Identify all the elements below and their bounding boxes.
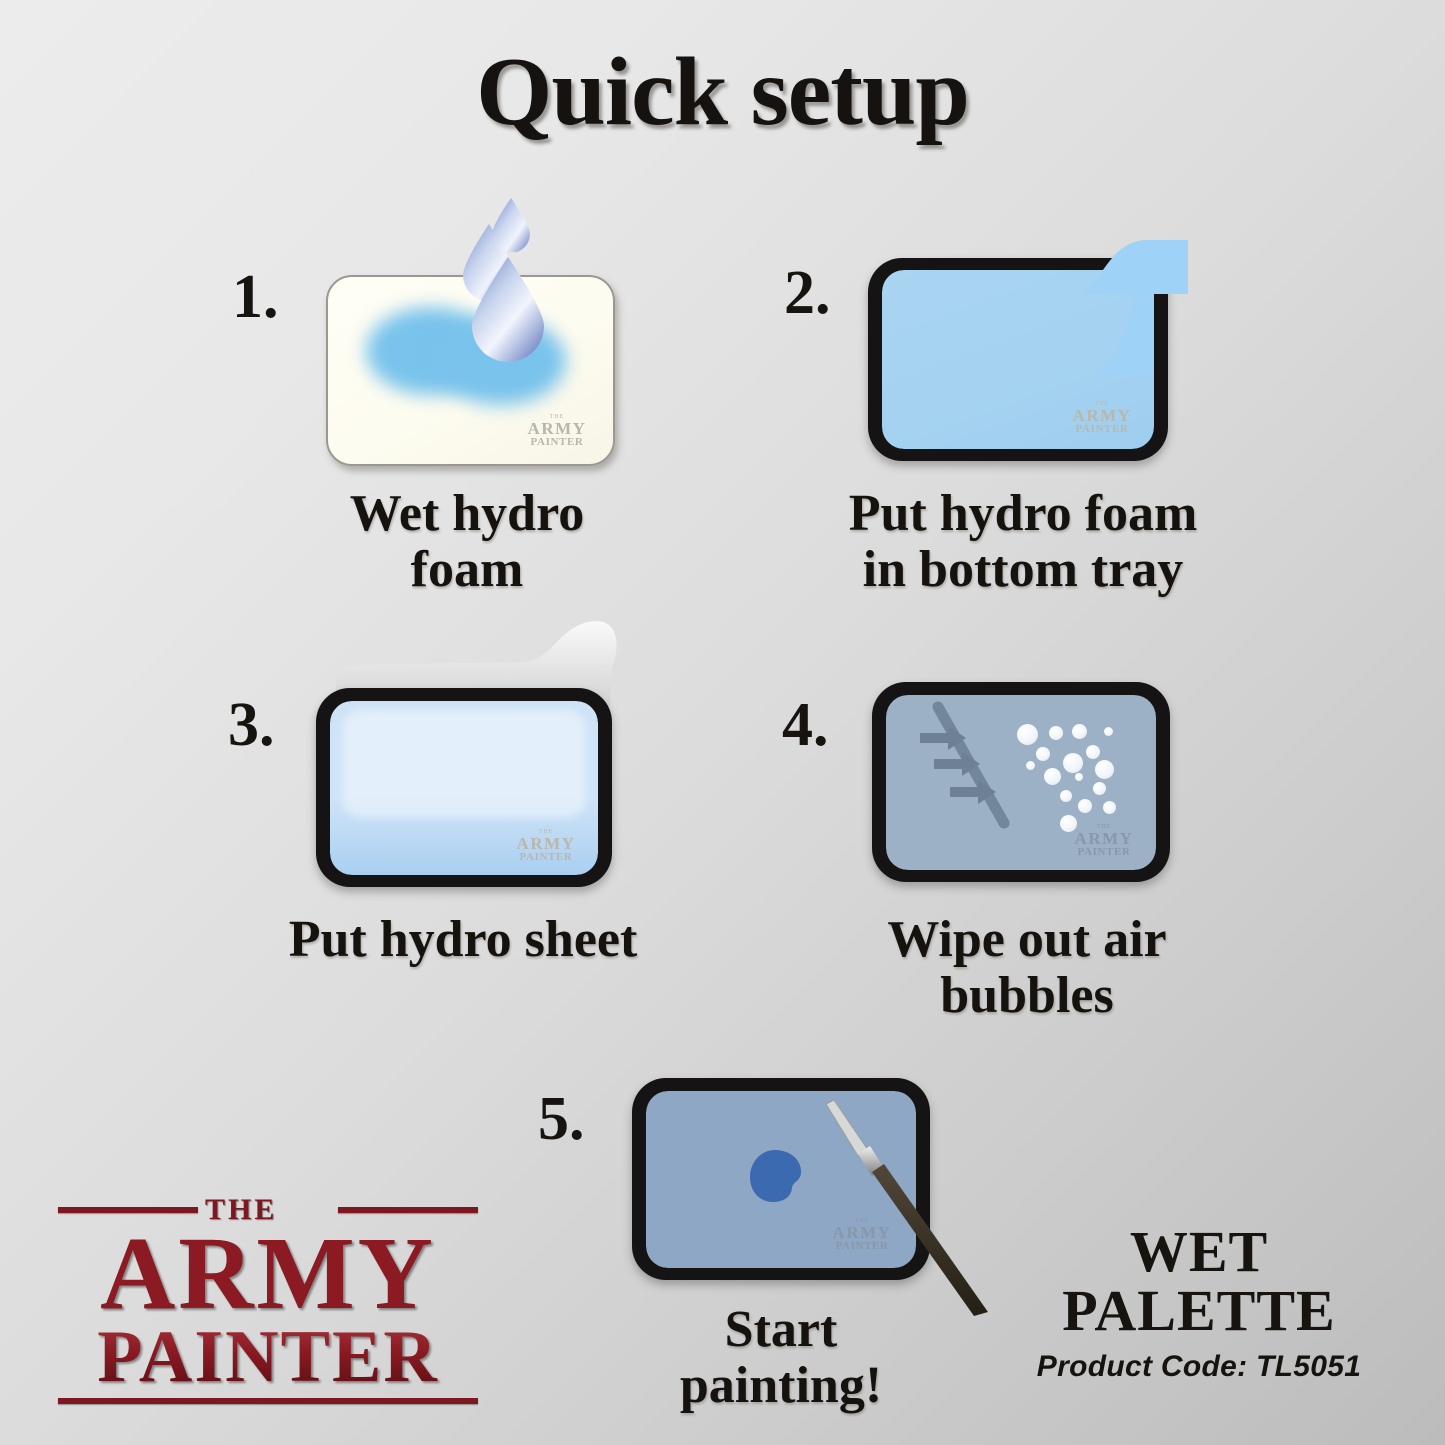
sheet-gloss — [343, 710, 584, 818]
bottom-tray: THE ARMY PAINTER — [872, 682, 1170, 882]
water-droplet-icon — [468, 254, 548, 362]
air-bubble — [1063, 753, 1083, 773]
logo-rule-bottom — [58, 1398, 478, 1404]
step-5-number: 5. — [538, 1084, 585, 1155]
product-info: WET PALETTE Product Code: TL5051 — [999, 1222, 1399, 1384]
army-painter-logo: THE ARMY PAINTER — [58, 1196, 478, 1396]
logo-painter-text: PAINTER — [58, 1322, 478, 1392]
air-bubble — [1103, 801, 1116, 814]
logo-army-text: ARMY — [58, 1226, 478, 1322]
tray-inner: THE ARMY PAINTER — [330, 701, 598, 875]
tray-inner: THE ARMY PAINTER — [886, 695, 1156, 870]
logo-rule-right — [338, 1207, 478, 1213]
air-bubble — [1049, 726, 1063, 740]
tray-inner: THE ARMY PAINTER — [882, 270, 1154, 449]
air-bubble — [1078, 799, 1092, 813]
air-bubble — [1072, 724, 1087, 739]
water-droplet-icon — [490, 196, 532, 252]
air-bubble — [1044, 768, 1061, 785]
infographic-page: Quick setup 1. THE ARMY PAINTER — [0, 0, 1445, 1445]
paint-blob — [748, 1148, 804, 1204]
bottom-tray: THE ARMY PAINTER — [316, 688, 612, 887]
air-bubble — [1017, 724, 1038, 745]
logo-rule-left — [58, 1207, 198, 1213]
air-bubble — [1060, 790, 1072, 802]
step-1-caption: Wet hydro foam — [262, 486, 672, 598]
air-bubble — [1086, 745, 1100, 759]
squeegee-and-arrows — [886, 695, 1156, 870]
step-4-number: 4. — [782, 690, 829, 761]
air-bubble — [1060, 815, 1077, 832]
step-3-number: 3. — [228, 690, 275, 761]
step-2-number: 2. — [784, 258, 831, 329]
step-3-caption: Put hydro sheet — [228, 912, 698, 968]
step-1-number: 1. — [232, 262, 279, 333]
air-bubble — [1026, 761, 1035, 770]
army-painter-watermark: THE ARMY PAINTER — [517, 414, 597, 448]
air-bubble — [1104, 727, 1113, 736]
air-bubble — [1036, 747, 1050, 761]
step-4-caption: Wipe out air bubbles — [832, 912, 1222, 1024]
product-code: Product Code: TL5051 — [999, 1350, 1399, 1384]
foam-corner-overhang — [1080, 238, 1190, 294]
product-name: WET PALETTE — [999, 1222, 1399, 1340]
page-title: Quick setup — [0, 36, 1445, 148]
step-5-caption: Start painting! — [586, 1302, 976, 1414]
step-2-caption: Put hydro foam in bottom tray — [808, 486, 1238, 598]
air-bubble — [1093, 782, 1106, 795]
air-bubble — [1075, 773, 1083, 781]
air-bubble — [1095, 760, 1114, 779]
